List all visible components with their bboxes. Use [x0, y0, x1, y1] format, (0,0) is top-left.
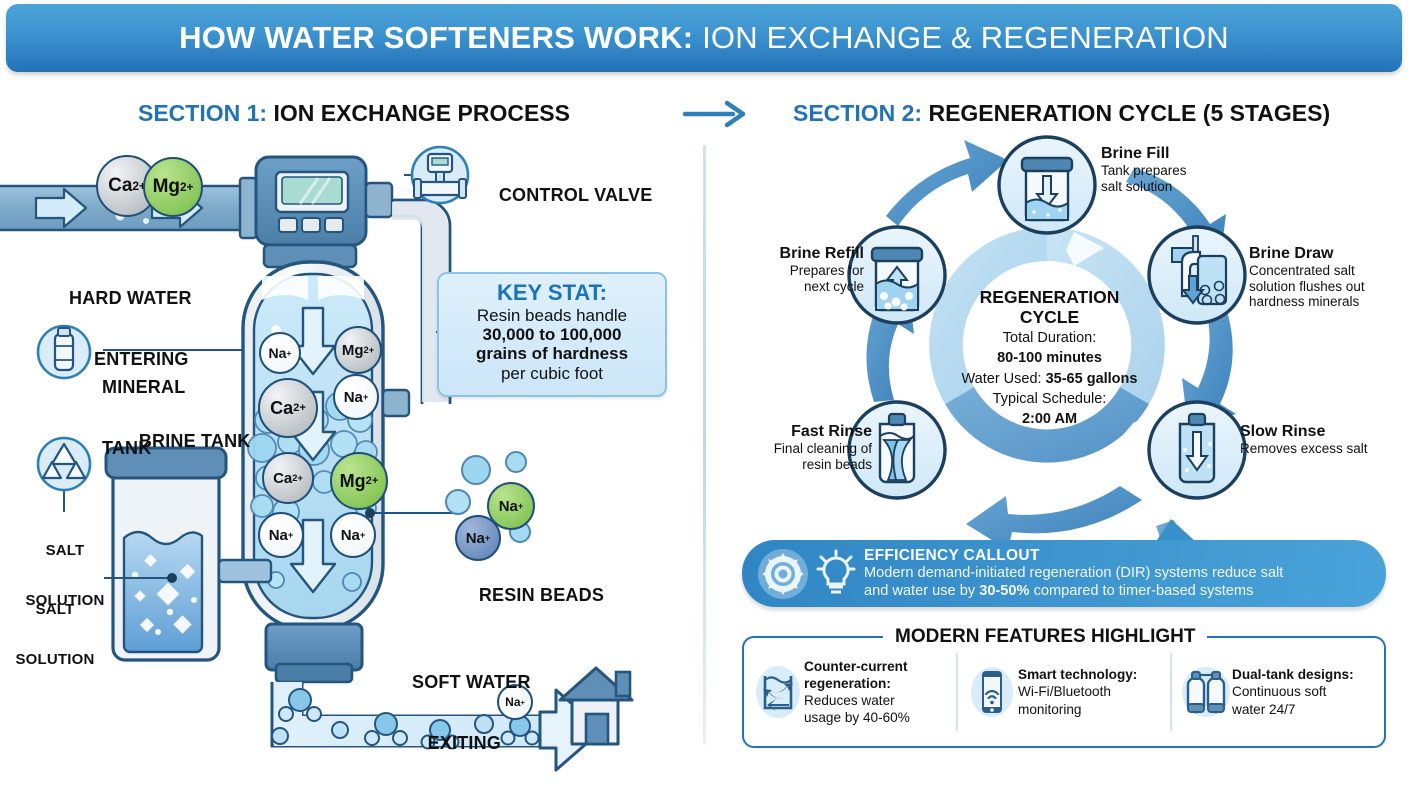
- regen-center-title-line-2: CYCLE: [952, 308, 1147, 328]
- gear-icon: [756, 547, 810, 601]
- key-stat-line-2: 30,000 to 100,000: [439, 325, 665, 344]
- regeneration-cycle-center: REGENERATION CYCLE Total Duration: 80-10…: [952, 288, 1147, 429]
- regen-duration-label: Total Duration:: [952, 329, 1147, 347]
- regen-schedule-label: Typical Schedule:: [952, 390, 1147, 408]
- key-stat-title: KEY STAT:: [439, 280, 665, 306]
- stage-label-brine-draw: Brine Draw Concentrated salt solution fl…: [1249, 245, 1365, 309]
- modern-features-panel: Counter-current regeneration: Reduces wa…: [742, 636, 1386, 748]
- modern-features-title: MODERN FEATURES HIGHLIGHT: [883, 626, 1207, 648]
- tank-sodium-ion-4: Na+: [330, 512, 376, 558]
- key-stat-line-1: Resin beads handle: [439, 306, 665, 325]
- lightbulb-icon: [812, 549, 860, 599]
- tank-sodium-ion-2: Na+: [333, 374, 379, 420]
- tank-calcium-ion-1: Ca2+: [258, 378, 318, 438]
- feature-counter-current-text: Counter-current regeneration: Reduces wa…: [804, 658, 910, 727]
- callout-text-block: EFFICIENCY CALLOUT Modern demand-initiat…: [864, 547, 1283, 600]
- dual-tank-icon: [1180, 661, 1232, 723]
- callout-title: EFFICIENCY CALLOUT: [864, 547, 1283, 565]
- brine-tank-label: BRINE TANK: [118, 411, 250, 471]
- salt-solution-pointer-label: SALT SOLUTION: [5, 568, 105, 702]
- feature-smart-technology-text: Smart technology: Wi-Fi/Bluetooth monito…: [1018, 666, 1137, 717]
- regen-center-title-line-1: REGENERATION: [952, 288, 1147, 308]
- feature-counter-current: Counter-current regeneration: Reduces wa…: [744, 653, 956, 731]
- regen-duration-value: 80-100 minutes: [952, 349, 1147, 367]
- key-stat-box: KEY STAT: Resin beads handle 30,000 to 1…: [437, 272, 667, 397]
- feature-smart-technology: Smart technology: Wi-Fi/Bluetooth monito…: [956, 653, 1170, 731]
- resin-beads-label: RESIN BEADS: [458, 565, 604, 625]
- tank-magnesium-ion-2: Mg2+: [330, 452, 388, 510]
- control-valve-label: CONTROL VALVE: [478, 165, 652, 225]
- tank-magnesium-ion-1: Mg2+: [334, 326, 382, 374]
- resin-sodium-ion-blue: Na+: [455, 515, 501, 561]
- stage-label-brine-refill: Brine Refill Prepares for next cycle: [740, 245, 864, 294]
- regen-water-used: Water Used: 35-65 gallons: [952, 370, 1147, 388]
- soft-water-label: SOFT WATER EXITING: [412, 632, 531, 793]
- inlet-magnesium-ion: Mg2+: [143, 157, 203, 217]
- counter-current-icon: [752, 661, 804, 723]
- smartphone-wifi-icon: [966, 661, 1018, 723]
- regen-schedule-value: 2:00 AM: [952, 410, 1147, 428]
- key-stat-line-3: grains of hardness: [439, 344, 665, 363]
- feature-dual-tank: Dual-tank designs: Continuous soft water…: [1170, 653, 1384, 731]
- infographic-root: HOW WATER SOFTENERS WORK: ION EXCHANGE &…: [0, 0, 1408, 768]
- stage-label-slow-rinse: Slow Rinse Removes excess salt: [1240, 423, 1368, 457]
- callout-body-line-1: Modern demand-initiated regeneration (DI…: [864, 565, 1283, 583]
- stage-label-fast-rinse: Fast Rinse Final cleaning of resin beads: [740, 423, 872, 472]
- tank-sodium-ion-1: Na+: [259, 332, 301, 374]
- key-stat-line-4: per cubic foot: [439, 364, 665, 383]
- tank-calcium-ion-2: Ca2+: [262, 452, 314, 504]
- tank-sodium-ion-3: Na+: [258, 512, 304, 558]
- stage-label-brine-fill: Brine Fill Tank prepares salt solution: [1101, 145, 1187, 194]
- feature-dual-tank-text: Dual-tank designs: Continuous soft water…: [1232, 666, 1354, 717]
- callout-body-line-2: and water use by 30-50% compared to time…: [864, 583, 1283, 601]
- efficiency-callout: EFFICIENCY CALLOUT Modern demand-initiat…: [742, 540, 1386, 607]
